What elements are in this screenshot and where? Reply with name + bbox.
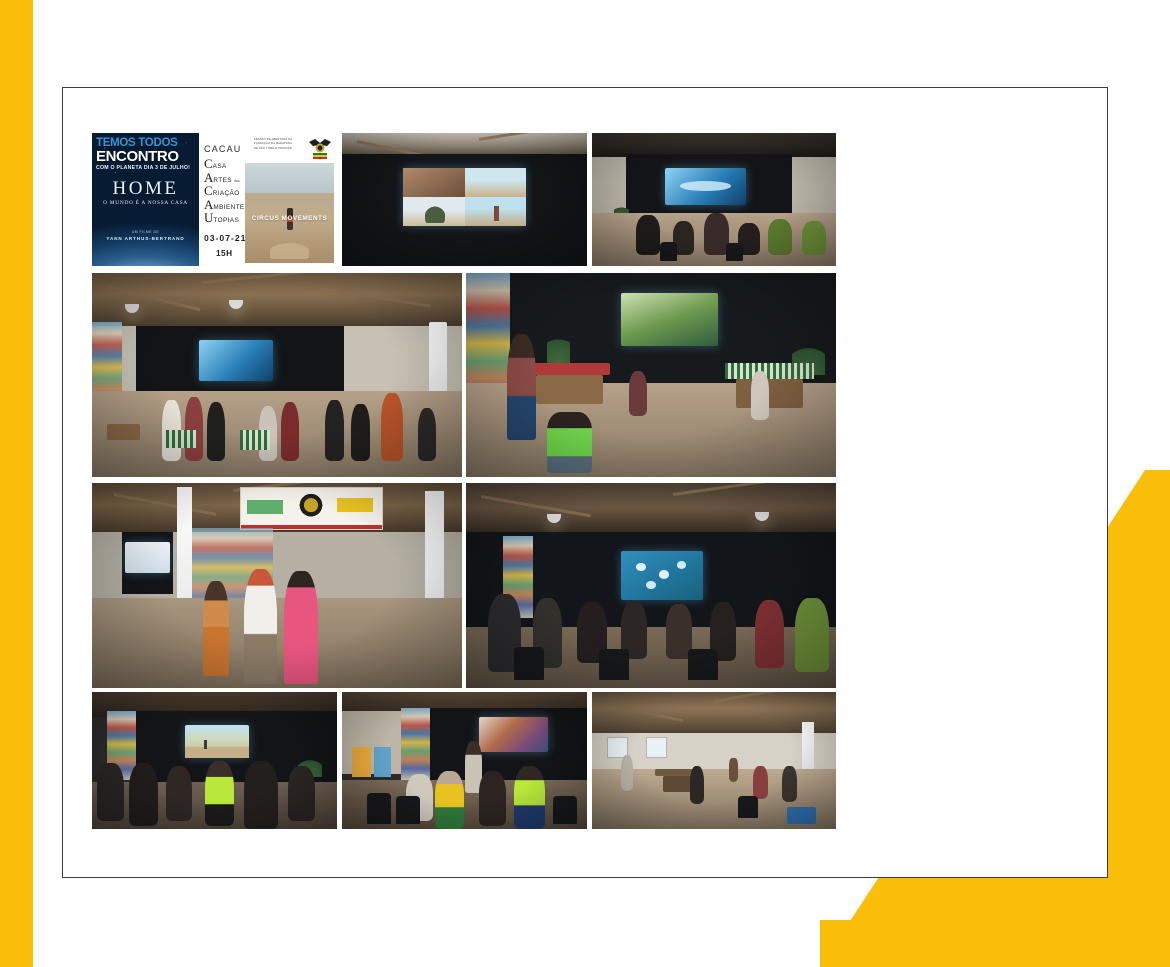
acronym-line: A MBIENTE	[204, 198, 245, 212]
photo-seated-audience[interactable]	[466, 483, 836, 688]
poster-cacau-time: 15H	[216, 249, 233, 258]
poster-home-headline: TEMOS TODOS ENCONTRO COM O PLANETA DIA 3…	[96, 138, 196, 172]
photo-visitors-banner[interactable]	[92, 483, 462, 688]
acronym-initial: U	[204, 211, 213, 224]
film-caption: CIRCUS MOVEMENTS	[245, 215, 334, 222]
vignette	[342, 133, 587, 266]
photo-audience-beach-film[interactable]	[92, 692, 337, 829]
maratona-logo-icon: M	[307, 136, 333, 160]
poster-cacau-date: 03-07-21	[204, 233, 246, 243]
acronym-connector: das	[234, 179, 240, 183]
poster-cacau: CACAU C ASA A RTES das	[199, 133, 337, 266]
poster-home-subtitle: O MUNDO É A NOSSA CASA	[92, 199, 199, 208]
sky	[245, 163, 334, 193]
acronym-initial: C	[204, 157, 213, 170]
vignette	[92, 692, 337, 829]
photo-open-hall[interactable]	[592, 692, 836, 829]
gallery-row-4	[92, 692, 836, 829]
photo-audience-blue-screen[interactable]	[592, 133, 836, 266]
photo-projection-quad[interactable]	[342, 133, 587, 266]
poster-home-line2: ENCONTRO	[96, 149, 196, 164]
poster-collage[interactable]: TEMOS TODOS ENCONTRO COM O PLANETA DIA 3…	[92, 133, 337, 266]
acronym-initial: C	[204, 184, 213, 197]
poster-home: TEMOS TODOS ENCONTRO COM O PLANETA DIA 3…	[92, 133, 199, 266]
acronym-initial: A	[204, 171, 213, 184]
acronym-rest: MBIENTE	[213, 204, 244, 211]
slide-canvas: TEMOS TODOS ENCONTRO COM O PLANETA DIA 3…	[0, 0, 1170, 967]
poster-home-title-block: HOME O MUNDO É A NOSSA CASA	[92, 179, 199, 208]
vignette	[592, 133, 836, 266]
organizer-line-3: DE SÃO TOMÉ E PRÍNCIPE	[245, 147, 301, 151]
gallery-row-3	[92, 483, 836, 688]
acronym-initial: A	[204, 198, 213, 211]
poster-home-title: HOME	[92, 179, 199, 199]
poster-home-credit-name: YANN ARTHUS-BERTRAND	[92, 235, 199, 243]
left-yellow-bar	[0, 0, 33, 967]
poster-cacau-heading: CACAU	[204, 144, 242, 154]
gallery-row-2	[92, 273, 836, 477]
photo-hangar-crowd[interactable]	[92, 273, 462, 477]
poster-cacau-organizer: SESSÃO DE ABERTURA DA FUNDAÇÃO DA MARATO…	[245, 138, 301, 151]
acronym-line: C RIAÇÃO	[204, 184, 245, 198]
svg-text:M: M	[319, 158, 321, 161]
acronym-rest: ASA	[213, 163, 227, 170]
acronym-rest: TOPIAS	[213, 217, 239, 224]
acronym-line: C ASA	[204, 157, 245, 171]
poster-cacau-acronym: C ASA A RTES das C RIAÇÃO	[204, 157, 245, 225]
vignette	[92, 273, 462, 477]
vignette	[342, 692, 587, 829]
poster-cacau-film-still: CIRCUS MOVEMENTS	[245, 163, 334, 263]
photo-speaker-presentation[interactable]	[342, 692, 587, 829]
vignette	[592, 692, 836, 829]
event-photo-gallery: TEMOS TODOS ENCONTRO COM O PLANETA DIA 3…	[92, 133, 836, 829]
acronym-line: U TOPIAS	[204, 211, 245, 225]
acronym-rest: RIAÇÃO	[213, 190, 240, 197]
vignette	[466, 483, 836, 688]
rock	[270, 243, 309, 259]
acronym-rest: RTES	[213, 177, 232, 184]
photo-market-tables[interactable]	[466, 273, 836, 477]
poster-home-line3: COM O PLANETA DIA 3 DE JULHO!	[96, 164, 196, 172]
gallery-row-1: TEMOS TODOS ENCONTRO COM O PLANETA DIA 3…	[92, 133, 836, 266]
acronym-line: A RTES das	[204, 171, 245, 185]
poster-home-credit: UM FILME DE YANN ARTHUS-BERTRAND	[92, 229, 199, 243]
vignette	[92, 483, 462, 688]
vignette	[466, 273, 836, 477]
